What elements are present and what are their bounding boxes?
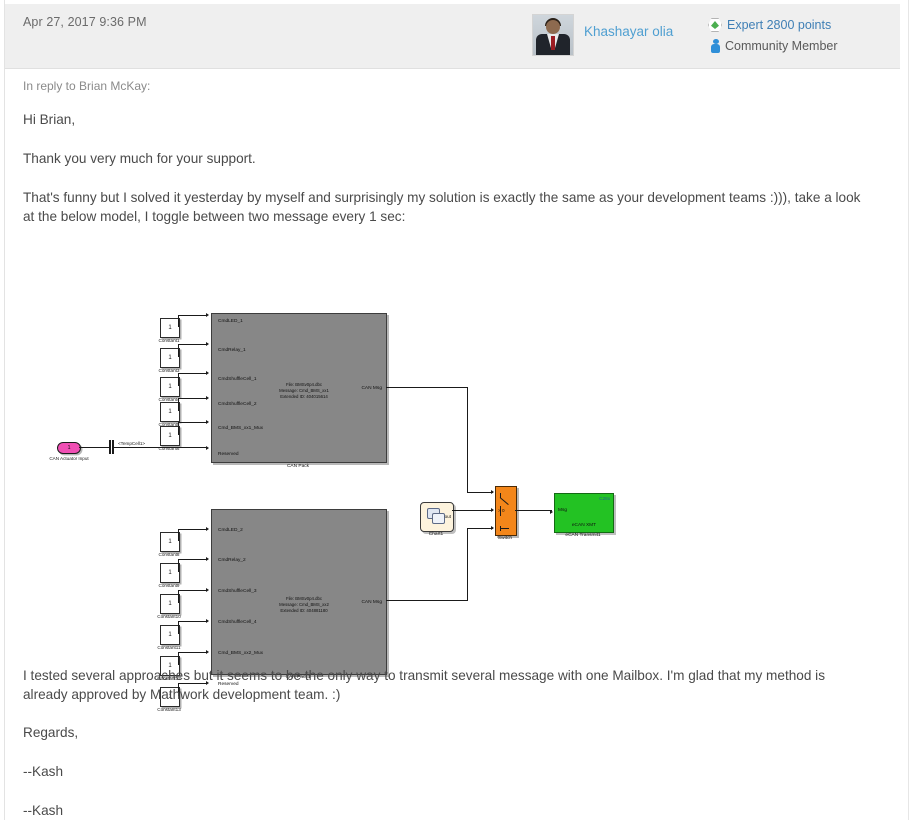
post-timestamp: Apr 27, 2017 9:36 PM	[23, 15, 147, 29]
canpack2-out-label: CAN Msg	[361, 600, 382, 605]
constant-11-name: Constant11	[142, 645, 196, 650]
canpack1-port-label-1: CmdRelay_1	[218, 348, 246, 353]
constant-block-1[interactable]: 1	[160, 318, 180, 338]
page-scrollbar[interactable]	[908, 0, 919, 820]
greeting-text: Hi Brian,	[23, 110, 75, 129]
regards-text: Regards,	[23, 723, 78, 742]
constant-9-name: Constant9	[142, 583, 196, 588]
canpack2-port-label-0: CmdLED_2	[218, 528, 243, 533]
badge-expert-label: Expert 2800 points	[727, 18, 831, 32]
canpack2-port-label-1: CmdRelay_2	[218, 558, 246, 563]
switch-threshold-label: > 0	[498, 508, 505, 513]
avatar[interactable]	[532, 14, 574, 56]
author-name-link[interactable]: Khashayar olia	[584, 24, 673, 39]
constant-block-5[interactable]: 1	[160, 402, 180, 422]
constant-block-11[interactable]: 1	[160, 625, 180, 645]
canpack1-port-label-0: CmdLED_1	[218, 319, 243, 324]
expert-badge-icon	[708, 18, 722, 32]
switch-block[interactable]: > 0	[495, 486, 517, 536]
post-body: In reply to Brian McKay: Hi Brian, Thank…	[5, 69, 898, 815]
constant-11-value: 1	[161, 631, 179, 639]
ecan-transmit-block[interactable]: C28x Msg eCAN XMT	[554, 493, 614, 533]
badge-expert[interactable]: Expert 2800 points	[708, 18, 908, 32]
stateflow-chart-block[interactable]: out	[420, 502, 454, 532]
constant-6-value: 1	[161, 432, 179, 440]
switch-block-name: Switch	[481, 536, 529, 541]
chart-block-name: Chart1	[414, 532, 458, 537]
ecan-inner-label: eCAN XMT	[555, 523, 613, 528]
constant-block-6[interactable]: 1	[160, 426, 180, 446]
constant-3-value: 1	[161, 354, 179, 362]
wire-chart-to-switch	[452, 510, 493, 511]
chart-state-icon-2	[432, 513, 445, 524]
constant-1-name: Constant1	[142, 338, 196, 343]
canpack1-port-label-3: CmdShuffleCell_2	[218, 402, 257, 407]
chart-out-label: out	[445, 514, 451, 519]
author-badges: Expert 2800 points Community Member	[708, 18, 908, 60]
signature-1: --Kash	[23, 762, 63, 781]
canpack1-extended-id: Extended ID: 404015614	[256, 394, 352, 400]
canpack2-port-label-2: CmdShuffleCell_3	[218, 589, 257, 594]
canpack1-port-label-4: Cmd_BMS_xx1_Mux	[218, 426, 263, 431]
canpack2-port-label-3: CmdShuffleCell_4	[218, 620, 257, 625]
wire-canpack1-out	[386, 387, 468, 388]
constant-5-value: 1	[161, 408, 179, 416]
canpack1-port-label-2: CmdShuffleCell_1	[218, 377, 257, 382]
signal-label-tempcell: <TempCell1>	[118, 442, 145, 447]
constant-4-value: 1	[161, 383, 179, 391]
badge-community-member: Community Member	[708, 39, 908, 53]
canpack1-out-label: CAN Msg	[361, 386, 382, 391]
wire-switch-to-ecan	[515, 510, 552, 511]
canpack1-block-name: CAN Pack	[211, 464, 385, 469]
constant-10-value: 1	[161, 600, 179, 608]
simulink-model-image: CmdLED_1 CmdRelay_1 CmdShuffleCell_1 Cmd…	[5, 237, 898, 657]
constant-block-4[interactable]: 1	[160, 377, 180, 397]
constant-block-8[interactable]: 1	[160, 532, 180, 552]
canpack2-extended-id: Extended ID: 404881180	[256, 608, 352, 614]
constant-1-value: 1	[161, 324, 179, 332]
thanks-text: Thank you very much for your support.	[23, 149, 256, 168]
constant-13-name: Constant13	[142, 707, 196, 712]
can-pack-block-2[interactable]: CmdLED_2 CmdRelay_2 CmdShuffleCell_3 Cmd…	[211, 509, 387, 675]
constant-8-name: Constant8	[142, 552, 196, 557]
reply-to-line: In reply to Brian McKay:	[23, 77, 150, 96]
constant-8-value: 1	[161, 538, 179, 546]
canpack2-port-label-4: Cmd_BMS_xx2_Mux	[218, 651, 263, 656]
paragraph-1: That's funny but I solved it yesterday b…	[23, 188, 873, 226]
wire-canpack1-down	[467, 387, 468, 492]
can-actuator-inport[interactable]: 1	[57, 442, 81, 454]
can-pack-block-1[interactable]: CmdLED_1 CmdRelay_1 CmdShuffleCell_1 Cmd…	[211, 313, 387, 463]
ecan-msg-port-label: Msg	[558, 508, 567, 513]
wire-canpack2-up	[467, 528, 468, 601]
inport-name-label: CAN Actuator Input	[30, 456, 108, 461]
ecan-block-name: eCAN Transmit1	[541, 533, 625, 538]
constant-block-9[interactable]: 1	[160, 563, 180, 583]
author-block: Khashayar olia	[532, 10, 673, 60]
person-icon	[711, 39, 720, 53]
wire-canpack2-out	[386, 600, 468, 601]
constant-9-value: 1	[161, 569, 179, 577]
signature-2: --Kash	[23, 801, 63, 820]
badge-member-label: Community Member	[725, 39, 838, 53]
wire-to-switch-port1	[467, 492, 493, 493]
constant-block-10[interactable]: 1	[160, 594, 180, 614]
inport-number: 1	[58, 443, 80, 453]
constant-10-name: Constant10	[142, 614, 196, 619]
c28x-label: C28x	[599, 496, 610, 501]
wire-to-switch-port3	[467, 528, 493, 529]
rate-transition-bar	[109, 440, 114, 454]
post-header: Apr 27, 2017 9:36 PM Khashayar olia Expe…	[5, 4, 900, 69]
forum-post-page: Apr 27, 2017 9:36 PM Khashayar olia Expe…	[0, 0, 919, 820]
paragraph-2: I tested several approaches but it seems…	[23, 666, 855, 704]
constant-block-3[interactable]: 1	[160, 348, 180, 368]
canpack1-port-label-5: Reserved	[218, 452, 239, 457]
